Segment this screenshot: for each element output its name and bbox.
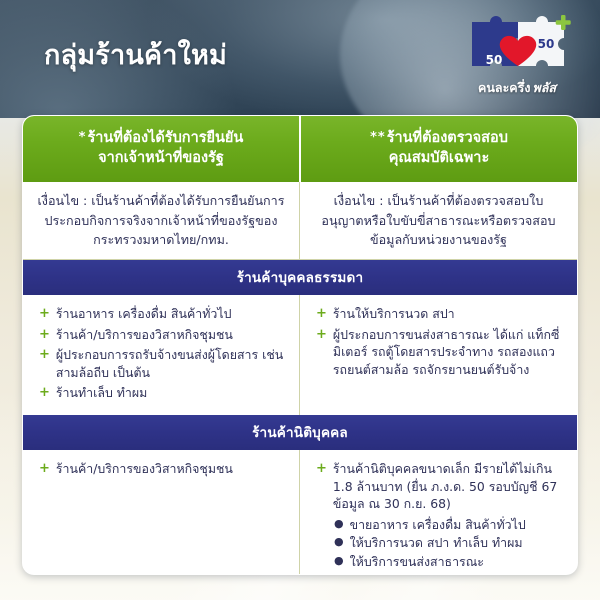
section-bar-juristic-person: ร้านค้านิติบุคคล <box>23 415 577 450</box>
plus-bullet-icon: + <box>39 346 50 364</box>
sub-list-item: ● ให้บริการนวด สปา ทำเล็บ ทำผม <box>334 534 565 552</box>
column-headers: *ร้านที่ต้องได้รับการยืนยัน จากเจ้าหน้าท… <box>23 116 577 182</box>
page-header: กลุ่มร้านค้าใหม่ 50 50 ค <box>0 0 600 118</box>
juristic-person-left-list: + ร้านค้า/บริการของวิสาหกิจชุมชน <box>23 450 300 575</box>
list-item: + ร้านค้าของกองทุนหมู่บ้านและชุมชนเมือง <box>316 573 565 575</box>
plus-bullet-icon: + <box>316 326 327 344</box>
juristic-person-right-list: + ร้านค้านิติบุคคลขนาดเล็ก มีรายได้ไม่เก… <box>300 450 577 575</box>
sub-list-item-label: ให้บริการขนส่งสาธารณะ <box>350 553 484 571</box>
dot-bullet-icon: ● <box>334 516 344 533</box>
sub-list-item-label: ให้บริการนวด สปา ทำเล็บ ทำผม <box>350 534 523 552</box>
conditions-row: เงื่อนไข : เป็นร้านค้าที่ต้องได้รับการยื… <box>23 182 577 260</box>
puzzle-logo-mark: 50 50 <box>462 14 574 80</box>
dot-bullet-icon: ● <box>334 553 344 570</box>
column-header-qualification-line1: ร้านที่ต้องตรวจสอบ <box>387 130 508 146</box>
condition-qualification: เงื่อนไข : เป็นร้านค้าที่ต้องตรวจสอบใบอน… <box>300 182 577 259</box>
section-natural-person-lists: + ร้านอาหาร เครื่องดื่ม สินค้าทั่วไป + ร… <box>23 295 577 415</box>
condition-verification: เงื่อนไข : เป็นร้านค้าที่ต้องได้รับการยื… <box>23 182 300 259</box>
plus-bullet-icon: + <box>316 460 327 478</box>
section-bar-natural-person: ร้านค้าบุคคลธรรมดา <box>23 260 577 295</box>
list-item: + ร้านค้า/บริการของวิสาหกิจชุมชน <box>39 326 287 344</box>
logo-wordmark-plus: พลัส <box>532 80 556 95</box>
list-item-label: ร้านค้า/บริการของวิสาหกิจชุมชน <box>56 460 287 478</box>
list-item-label: ร้านอาหาร เครื่องดื่ม สินค้าทั่วไป <box>56 305 287 323</box>
marker-double-asterisk: ** <box>370 130 386 145</box>
list-item: + ร้านอาหาร เครื่องดื่ม สินค้าทั่วไป <box>39 305 287 323</box>
marker-single-asterisk: * <box>79 130 87 145</box>
svg-text:50: 50 <box>486 53 503 67</box>
plus-bullet-icon: + <box>316 305 327 323</box>
brand-logo: 50 50 คนละครึ่งพลัส <box>454 14 580 108</box>
list-item: + ผู้ประกอบการขนส่งสาธารณะ ได้แก่ แท็กซี… <box>316 326 565 379</box>
plus-bullet-icon: + <box>39 384 50 402</box>
plus-bullet-icon: + <box>39 305 50 323</box>
logo-wordmark: คนละครึ่งพลัส <box>454 78 580 98</box>
plus-bullet-icon: + <box>39 460 50 478</box>
list-item-label: ร้านทำเล็บ ทำผม <box>56 384 287 402</box>
dot-bullet-icon: ● <box>334 534 344 551</box>
sub-list-item: ● ขายอาหาร เครื่องดื่ม สินค้าทั่วไป <box>334 516 565 534</box>
list-item-label: ร้านให้บริการนวด สปา <box>333 305 565 323</box>
column-header-verification: *ร้านที่ต้องได้รับการยืนยัน จากเจ้าหน้าท… <box>23 116 299 182</box>
list-item-label: ร้านค้า/บริการของวิสาหกิจชุมชน <box>56 326 287 344</box>
plus-bullet-icon: + <box>316 573 327 575</box>
column-header-qualification-line2: คุณสมบัติเฉพาะ <box>389 150 490 166</box>
column-header-qualification: **ร้านที่ต้องตรวจสอบ คุณสมบัติเฉพาะ <box>301 116 577 182</box>
list-item-label: ร้านค้านิติบุคคลขนาดเล็ก มีรายได้ไม่เกิน… <box>333 460 565 513</box>
natural-person-right-list: + ร้านให้บริการนวด สปา + ผู้ประกอบการขนส… <box>300 295 577 415</box>
sub-list-item-label: ขายอาหาร เครื่องดื่ม สินค้าทั่วไป <box>350 516 526 534</box>
plus-bullet-icon: + <box>39 326 50 344</box>
svg-text:50: 50 <box>538 37 555 51</box>
list-item-label: ผู้ประกอบการรถรับจ้างขนส่งผู้โดยสาร เช่น… <box>56 346 287 381</box>
list-item-label: ผู้ประกอบการขนส่งสาธารณะ ได้แก่ แท็กซี่ม… <box>333 326 565 379</box>
list-item: + ร้านทำเล็บ ทำผม <box>39 384 287 402</box>
column-header-verification-line2: จากเจ้าหน้าที่ของรัฐ <box>98 150 224 166</box>
list-item: + ผู้ประกอบการรถรับจ้างขนส่งผู้โดยสาร เช… <box>39 346 287 381</box>
list-item-label: ร้านค้าของกองทุนหมู่บ้านและชุมชนเมือง <box>333 573 565 575</box>
juristic-person-sub-list: ● ขายอาหาร เครื่องดื่ม สินค้าทั่วไป ● ให… <box>334 516 565 571</box>
sub-list-item: ● ให้บริการขนส่งสาธารณะ <box>334 553 565 571</box>
logo-wordmark-main: คนละครึ่ง <box>478 80 530 95</box>
section-juristic-person-lists: + ร้านค้า/บริการของวิสาหกิจชุมชน + ร้านค… <box>23 450 577 575</box>
list-item: + ร้านให้บริการนวด สปา <box>316 305 565 323</box>
column-header-verification-line1: ร้านที่ต้องได้รับการยืนยัน <box>87 130 243 146</box>
list-item: + ร้านค้านิติบุคคลขนาดเล็ก มีรายได้ไม่เก… <box>316 460 565 513</box>
natural-person-left-list: + ร้านอาหาร เครื่องดื่ม สินค้าทั่วไป + ร… <box>23 295 300 415</box>
content-card: *ร้านที่ต้องได้รับการยืนยัน จากเจ้าหน้าท… <box>22 115 578 575</box>
page-title: กลุ่มร้านค้าใหม่ <box>44 40 227 72</box>
list-item: + ร้านค้า/บริการของวิสาหกิจชุมชน <box>39 460 287 478</box>
